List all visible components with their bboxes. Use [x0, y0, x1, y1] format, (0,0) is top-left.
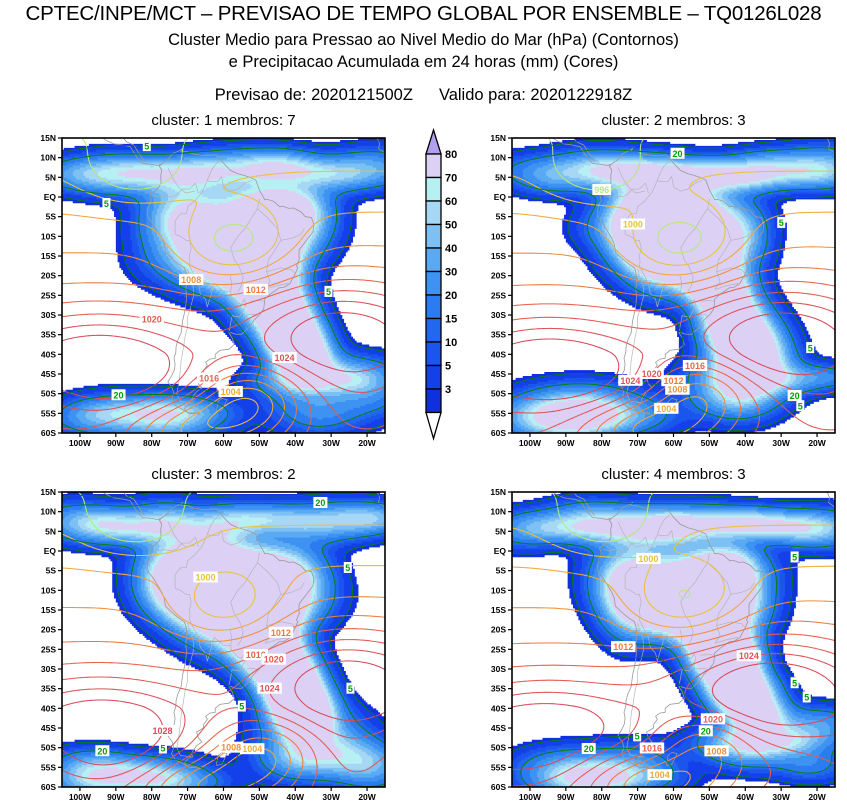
svg-text:50: 50 — [445, 220, 457, 232]
svg-text:30: 30 — [445, 267, 457, 279]
svg-text:100W: 100W — [519, 438, 542, 448]
svg-text:1024: 1024 — [739, 651, 759, 661]
svg-text:30S: 30S — [491, 310, 506, 320]
svg-text:10: 10 — [445, 337, 457, 349]
svg-text:60W: 60W — [215, 438, 233, 448]
svg-text:60S: 60S — [41, 428, 56, 438]
svg-text:20: 20 — [315, 498, 325, 508]
svg-text:45S: 45S — [491, 723, 506, 733]
svg-text:55S: 55S — [491, 408, 506, 418]
map-panel-cluster-3[interactable]: 1000100410081012101610201024102855552020… — [20, 485, 407, 806]
svg-text:5: 5 — [144, 141, 149, 151]
svg-text:5: 5 — [792, 678, 797, 688]
svg-text:15N: 15N — [40, 487, 56, 497]
svg-text:60S: 60S — [491, 428, 506, 438]
svg-text:1008: 1008 — [667, 385, 687, 395]
svg-text:EQ: EQ — [494, 192, 507, 202]
svg-text:25S: 25S — [41, 290, 56, 300]
svg-text:15N: 15N — [490, 487, 506, 497]
svg-text:1008: 1008 — [221, 743, 241, 753]
svg-text:90W: 90W — [107, 438, 125, 448]
svg-text:50W: 50W — [251, 792, 269, 802]
svg-text:20: 20 — [97, 746, 107, 756]
svg-text:1024: 1024 — [260, 684, 280, 694]
svg-text:40S: 40S — [491, 703, 506, 713]
subtitle-line-2: e Precipitacao Acumulada em 24 horas (mm… — [0, 53, 847, 72]
svg-text:10N: 10N — [490, 153, 506, 163]
svg-text:996: 996 — [594, 185, 609, 195]
svg-text:20W: 20W — [358, 438, 376, 448]
svg-text:90W: 90W — [557, 438, 575, 448]
svg-text:10S: 10S — [41, 231, 56, 241]
svg-text:40S: 40S — [491, 349, 506, 359]
svg-text:50S: 50S — [41, 743, 56, 753]
svg-text:40W: 40W — [287, 792, 305, 802]
svg-text:20: 20 — [114, 390, 124, 400]
svg-text:55S: 55S — [491, 762, 506, 772]
svg-text:5N: 5N — [45, 526, 56, 536]
svg-text:25S: 25S — [491, 290, 506, 300]
svg-text:1028: 1028 — [152, 726, 172, 736]
svg-text:1012: 1012 — [663, 376, 683, 386]
svg-text:50W: 50W — [251, 438, 269, 448]
svg-text:5: 5 — [239, 702, 244, 712]
svg-text:15S: 15S — [491, 605, 506, 615]
panel-title-cluster-1: cluster: 1 membros: 7 — [62, 112, 385, 129]
svg-text:70W: 70W — [629, 438, 647, 448]
svg-text:40S: 40S — [41, 349, 56, 359]
svg-text:20: 20 — [445, 290, 457, 302]
svg-text:70: 70 — [445, 173, 457, 185]
svg-text:10N: 10N — [490, 507, 506, 517]
svg-text:40: 40 — [445, 243, 457, 255]
svg-text:30S: 30S — [41, 664, 56, 674]
svg-text:5S: 5S — [496, 566, 507, 576]
svg-text:40W: 40W — [737, 438, 755, 448]
svg-text:20S: 20S — [41, 625, 56, 635]
svg-text:5: 5 — [104, 199, 109, 209]
svg-text:10N: 10N — [40, 507, 56, 517]
svg-text:55S: 55S — [41, 762, 56, 772]
svg-text:5: 5 — [779, 218, 784, 228]
svg-text:10S: 10S — [41, 585, 56, 595]
svg-text:30W: 30W — [322, 438, 340, 448]
svg-text:15S: 15S — [41, 605, 56, 615]
svg-text:20W: 20W — [808, 792, 826, 802]
subtitle-line-1: Cluster Medio para Pressao ao Nivel Medi… — [0, 31, 847, 50]
svg-text:1016: 1016 — [199, 373, 219, 383]
map-panel-cluster-1[interactable]: 10041008101210161020102455520100W90W80W7… — [20, 131, 407, 452]
svg-text:80W: 80W — [143, 438, 161, 448]
svg-text:1000: 1000 — [638, 554, 658, 564]
svg-text:5: 5 — [160, 744, 165, 754]
svg-text:1012: 1012 — [613, 642, 633, 652]
svg-text:5: 5 — [798, 401, 803, 411]
svg-text:20: 20 — [673, 149, 683, 159]
svg-text:60S: 60S — [41, 782, 56, 792]
svg-text:3: 3 — [445, 384, 451, 396]
svg-text:20W: 20W — [358, 792, 376, 802]
svg-text:1004: 1004 — [650, 770, 670, 780]
svg-text:EQ: EQ — [44, 546, 57, 556]
svg-text:25S: 25S — [41, 644, 56, 654]
svg-text:15N: 15N — [40, 133, 56, 143]
svg-text:10S: 10S — [491, 585, 506, 595]
svg-text:15S: 15S — [491, 251, 506, 261]
svg-text:50S: 50S — [491, 743, 506, 753]
forecast-valid-label: Valido para: 2020122918Z — [439, 86, 632, 104]
svg-text:1020: 1020 — [264, 655, 284, 665]
svg-text:1004: 1004 — [656, 404, 676, 414]
svg-text:EQ: EQ — [494, 546, 507, 556]
svg-text:5S: 5S — [46, 212, 57, 222]
page-title: CPTEC/INPE/MCT – PREVISAO DE TEMPO GLOBA… — [0, 2, 847, 26]
svg-text:1016: 1016 — [685, 361, 705, 371]
svg-text:1020: 1020 — [642, 369, 662, 379]
svg-text:60W: 60W — [665, 438, 683, 448]
svg-text:1012: 1012 — [271, 628, 291, 638]
svg-text:5: 5 — [445, 361, 451, 373]
svg-text:30S: 30S — [491, 664, 506, 674]
svg-text:20S: 20S — [41, 271, 56, 281]
svg-text:1020: 1020 — [142, 314, 162, 324]
svg-text:60W: 60W — [665, 792, 683, 802]
svg-text:5: 5 — [792, 553, 797, 563]
svg-text:1020: 1020 — [703, 714, 723, 724]
svg-text:60S: 60S — [491, 782, 506, 792]
svg-text:80W: 80W — [593, 792, 611, 802]
svg-text:40S: 40S — [41, 703, 56, 713]
map-panel-cluster-2[interactable]: 1004100810121016102010249961000555202010… — [470, 131, 847, 452]
svg-text:1024: 1024 — [620, 376, 640, 386]
svg-text:5S: 5S — [496, 212, 507, 222]
svg-text:1004: 1004 — [221, 387, 241, 397]
svg-text:100W: 100W — [519, 792, 542, 802]
svg-text:1024: 1024 — [274, 353, 294, 363]
svg-text:20: 20 — [790, 391, 800, 401]
svg-text:100W: 100W — [69, 792, 92, 802]
svg-text:10N: 10N — [40, 153, 56, 163]
svg-text:5: 5 — [804, 693, 809, 703]
svg-text:20W: 20W — [808, 438, 826, 448]
svg-text:40W: 40W — [287, 438, 305, 448]
svg-text:20: 20 — [584, 744, 594, 754]
svg-text:35S: 35S — [491, 330, 506, 340]
svg-text:90W: 90W — [557, 792, 575, 802]
svg-text:70W: 70W — [179, 792, 197, 802]
svg-text:1016: 1016 — [642, 743, 662, 753]
svg-text:30S: 30S — [41, 310, 56, 320]
panel-title-cluster-4: cluster: 4 membros: 3 — [512, 466, 835, 483]
colorbar-precipitation: 80706050403020151053 — [410, 128, 458, 448]
svg-text:30W: 30W — [772, 792, 790, 802]
svg-text:15S: 15S — [41, 251, 56, 261]
svg-text:1004: 1004 — [242, 744, 262, 754]
svg-text:60W: 60W — [215, 792, 233, 802]
map-panel-cluster-4[interactable]: 100010041008101210161020102455552020100W… — [470, 485, 847, 806]
svg-text:1012: 1012 — [246, 285, 266, 295]
svg-text:20S: 20S — [491, 271, 506, 281]
svg-text:5: 5 — [808, 343, 813, 353]
svg-text:1000: 1000 — [196, 573, 216, 583]
svg-text:50S: 50S — [491, 389, 506, 399]
svg-text:5N: 5N — [495, 526, 506, 536]
svg-text:100W: 100W — [69, 438, 92, 448]
panel-title-cluster-2: cluster: 2 membros: 3 — [512, 112, 835, 129]
svg-text:1008: 1008 — [707, 746, 727, 756]
svg-text:1008: 1008 — [181, 275, 201, 285]
svg-text:5: 5 — [345, 563, 350, 573]
svg-text:20S: 20S — [491, 625, 506, 635]
svg-text:50S: 50S — [41, 389, 56, 399]
svg-text:80: 80 — [445, 149, 457, 161]
svg-text:45S: 45S — [41, 369, 56, 379]
svg-text:35S: 35S — [491, 684, 506, 694]
svg-text:5: 5 — [326, 287, 331, 297]
svg-text:20: 20 — [701, 727, 711, 737]
svg-text:30W: 30W — [772, 438, 790, 448]
svg-text:5N: 5N — [45, 172, 56, 182]
svg-text:80W: 80W — [143, 792, 161, 802]
svg-text:35S: 35S — [41, 330, 56, 340]
svg-text:15: 15 — [445, 314, 457, 326]
svg-text:70W: 70W — [629, 792, 647, 802]
svg-text:50W: 50W — [701, 438, 719, 448]
svg-text:50W: 50W — [701, 792, 719, 802]
svg-text:5: 5 — [348, 684, 353, 694]
svg-text:5: 5 — [635, 732, 640, 742]
svg-text:35S: 35S — [41, 684, 56, 694]
svg-text:40W: 40W — [737, 792, 755, 802]
forecast-dates: Previsao de: 2020121500ZValido para: 202… — [0, 86, 847, 105]
svg-text:1000: 1000 — [623, 220, 643, 230]
forecast-init-label: Previsao de: 2020121500Z — [215, 86, 413, 104]
svg-text:60: 60 — [445, 196, 457, 208]
svg-text:70W: 70W — [179, 438, 197, 448]
svg-text:55S: 55S — [41, 408, 56, 418]
svg-text:30W: 30W — [322, 792, 340, 802]
svg-text:90W: 90W — [107, 792, 125, 802]
svg-text:EQ: EQ — [44, 192, 57, 202]
svg-text:80W: 80W — [593, 438, 611, 448]
svg-text:15N: 15N — [490, 133, 506, 143]
svg-text:5N: 5N — [495, 172, 506, 182]
svg-text:45S: 45S — [41, 723, 56, 733]
svg-text:10S: 10S — [491, 231, 506, 241]
svg-text:25S: 25S — [491, 644, 506, 654]
panel-title-cluster-3: cluster: 3 membros: 2 — [62, 466, 385, 483]
svg-text:45S: 45S — [491, 369, 506, 379]
svg-text:5S: 5S — [46, 566, 57, 576]
